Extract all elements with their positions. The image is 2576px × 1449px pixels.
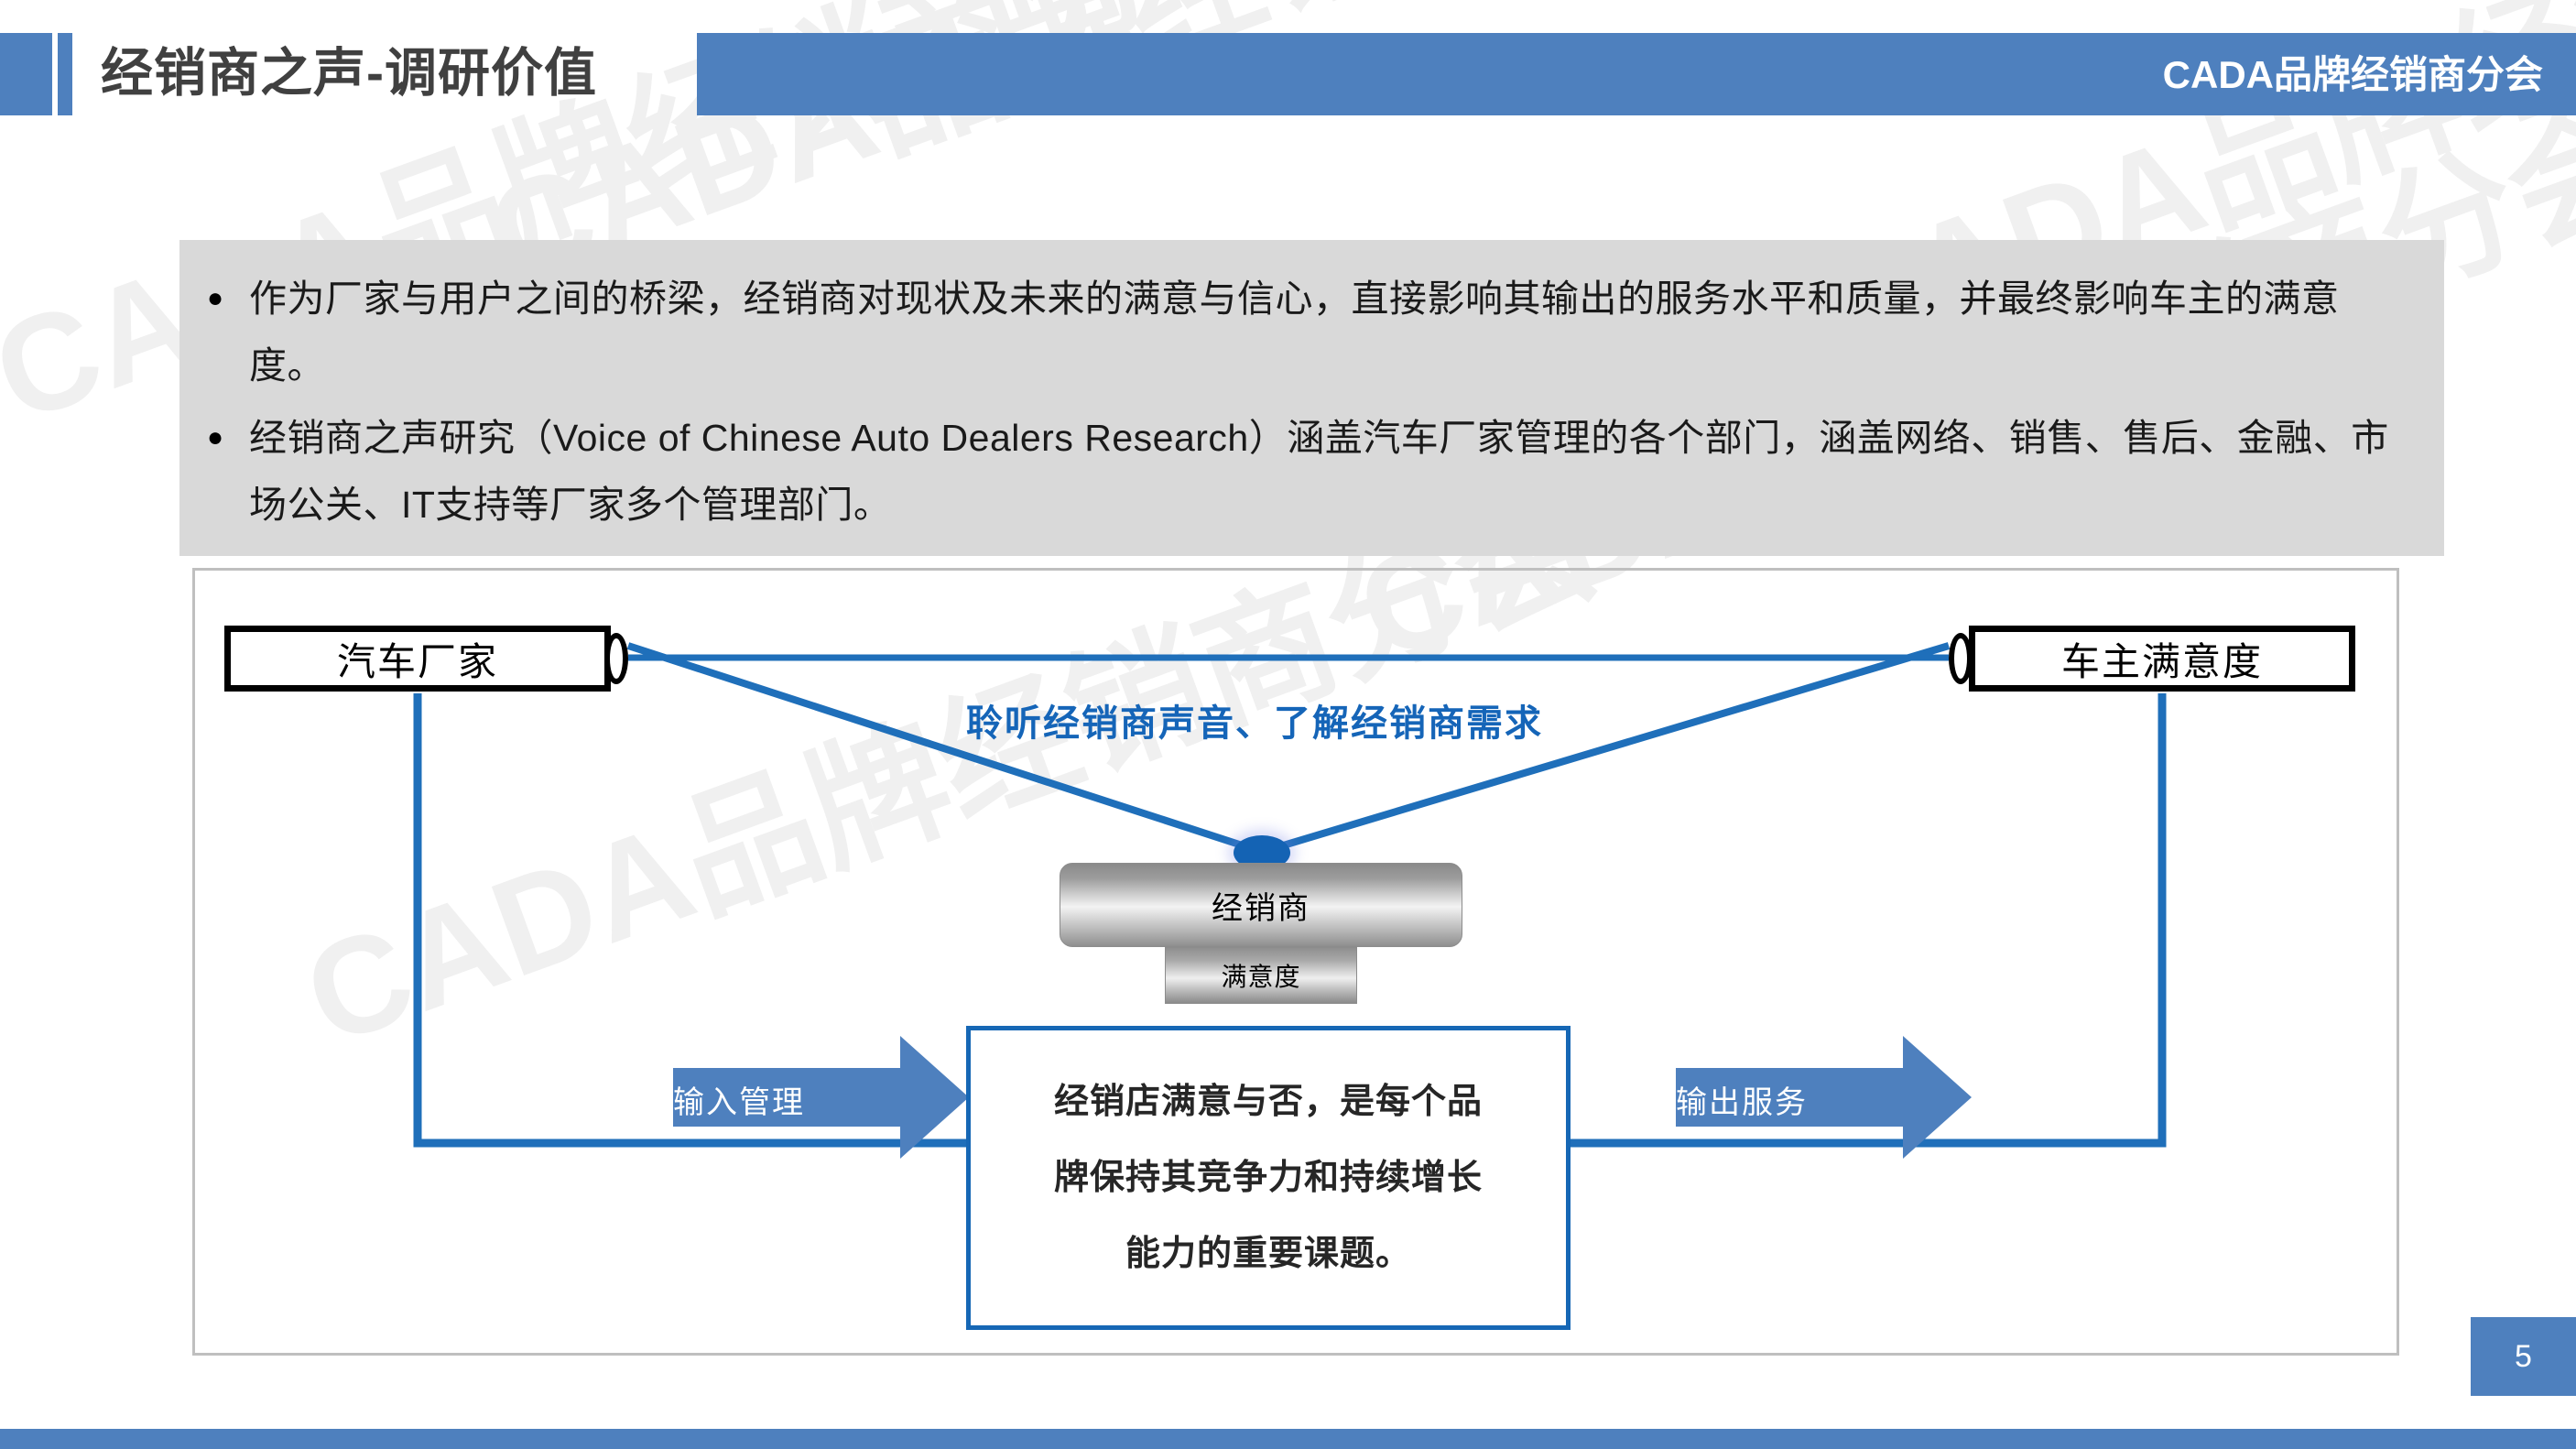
- center-statement-line: 牌保持其竞争力和持续增长: [1054, 1140, 1483, 1216]
- bullet-text: 作为厂家与用户之间的桥梁，经销商对现状及未来的满意与信心，直接影响其输出的服务水…: [249, 266, 2408, 399]
- center-statement-box: 经销店满意与否，是每个品 牌保持其竞争力和持续增长 能力的重要课题。: [966, 1026, 1571, 1330]
- diagram-headline: 聆听经销商声音、了解经销商需求: [842, 693, 1667, 746]
- center-statement-line: 经销店满意与否，是每个品: [1054, 1064, 1483, 1140]
- header-accent-bar-wide: [0, 33, 52, 115]
- slide: CADA品牌经销商分会 CADA品牌经销商分会 CADA品牌经销商分会 CADA…: [0, 0, 2576, 1449]
- page-number-badge: 5: [2471, 1317, 2576, 1396]
- arrow-label-input: 输入管理: [673, 1077, 805, 1122]
- dealer-drum-top: 经销商: [1060, 863, 1462, 947]
- bullet-panel: ● 作为厂家与用户之间的桥梁，经销商对现状及未来的满意与信心，直接影响其输出的服…: [179, 240, 2444, 556]
- page-title: 经销商之声-调研价值: [101, 27, 597, 119]
- dealer-drum-base: 满意度: [1165, 947, 1357, 1004]
- connector-node-right-icon: [1949, 633, 1973, 684]
- connector-node-left-icon: [604, 633, 628, 684]
- bullet-item: ● 经销商之声研究（Voice of Chinese Auto Dealers …: [207, 405, 2408, 539]
- center-statement-line: 能力的重要课题。: [1125, 1216, 1411, 1292]
- bullet-marker-icon: ●: [207, 266, 249, 332]
- bullet-marker-icon: ●: [207, 405, 249, 471]
- node-owner-satisfaction: 车主满意度: [1969, 626, 2355, 692]
- node-oem: 汽车厂家: [224, 626, 611, 692]
- bullet-item: ● 作为厂家与用户之间的桥梁，经销商对现状及未来的满意与信心，直接影响其输出的服…: [207, 266, 2408, 399]
- brand-label: CADA品牌经销商分会: [2163, 33, 2543, 115]
- arrow-label-output: 输出服务: [1676, 1077, 1808, 1122]
- bullet-text: 经销商之声研究（Voice of Chinese Auto Dealers Re…: [249, 405, 2408, 539]
- header-accent-bar-thin: [58, 33, 72, 115]
- footer-accent-bar: [0, 1429, 2576, 1449]
